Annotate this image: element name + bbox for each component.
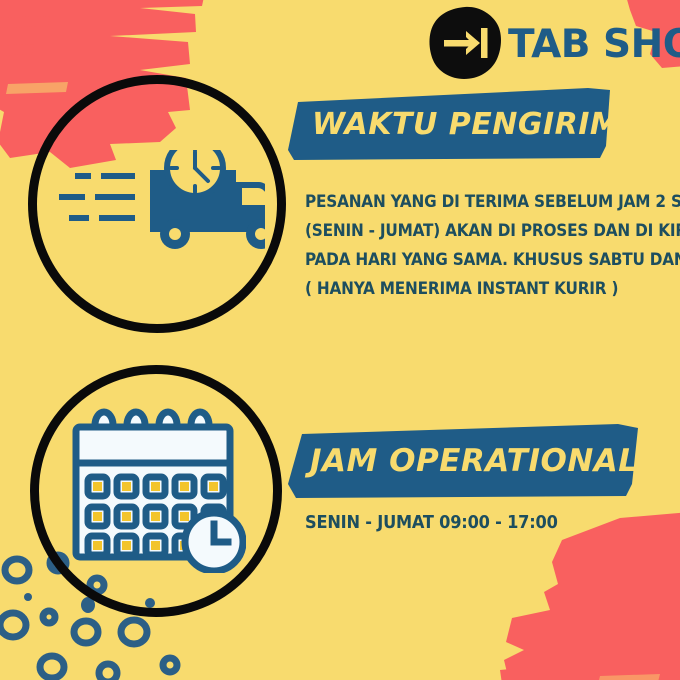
shipping-line-2: (SENIN - JUMAT) AKAN DI PROSES DAN DI KI… — [305, 217, 680, 246]
hours-banner-title: JAM OPERATIONAL — [288, 424, 638, 498]
shipping-body-text: PESANAN YANG DI TERIMA SEBELUM JAM 2 SIA… — [305, 188, 680, 304]
brand-logo[interactable]: TAB SHOP — [428, 6, 680, 80]
hours-body-text: SENIN - JUMAT 09:00 - 17:00 — [305, 508, 558, 537]
shipping-line-4: ( HANYA MENERIMA INSTANT KURIR ) — [305, 275, 680, 304]
shipping-line-1: PESANAN YANG DI TERIMA SEBELUM JAM 2 SIA… — [305, 188, 680, 217]
shipping-line-3: PADA HARI YANG SAMA. KHUSUS SABTU DAN MI… — [305, 246, 680, 275]
hours-line-1: SENIN - JUMAT 09:00 - 17:00 — [305, 508, 558, 537]
brand-name: TAB SHOP — [508, 25, 680, 64]
arrow-to-line-icon — [428, 6, 502, 80]
delivery-truck-clock-icon — [55, 150, 265, 260]
poster-canvas: TAB SHOP — [0, 0, 680, 680]
calendar-clock-icon — [68, 405, 246, 573]
shipping-banner-title: WAKTU PENGIRIMAN — [288, 88, 610, 160]
